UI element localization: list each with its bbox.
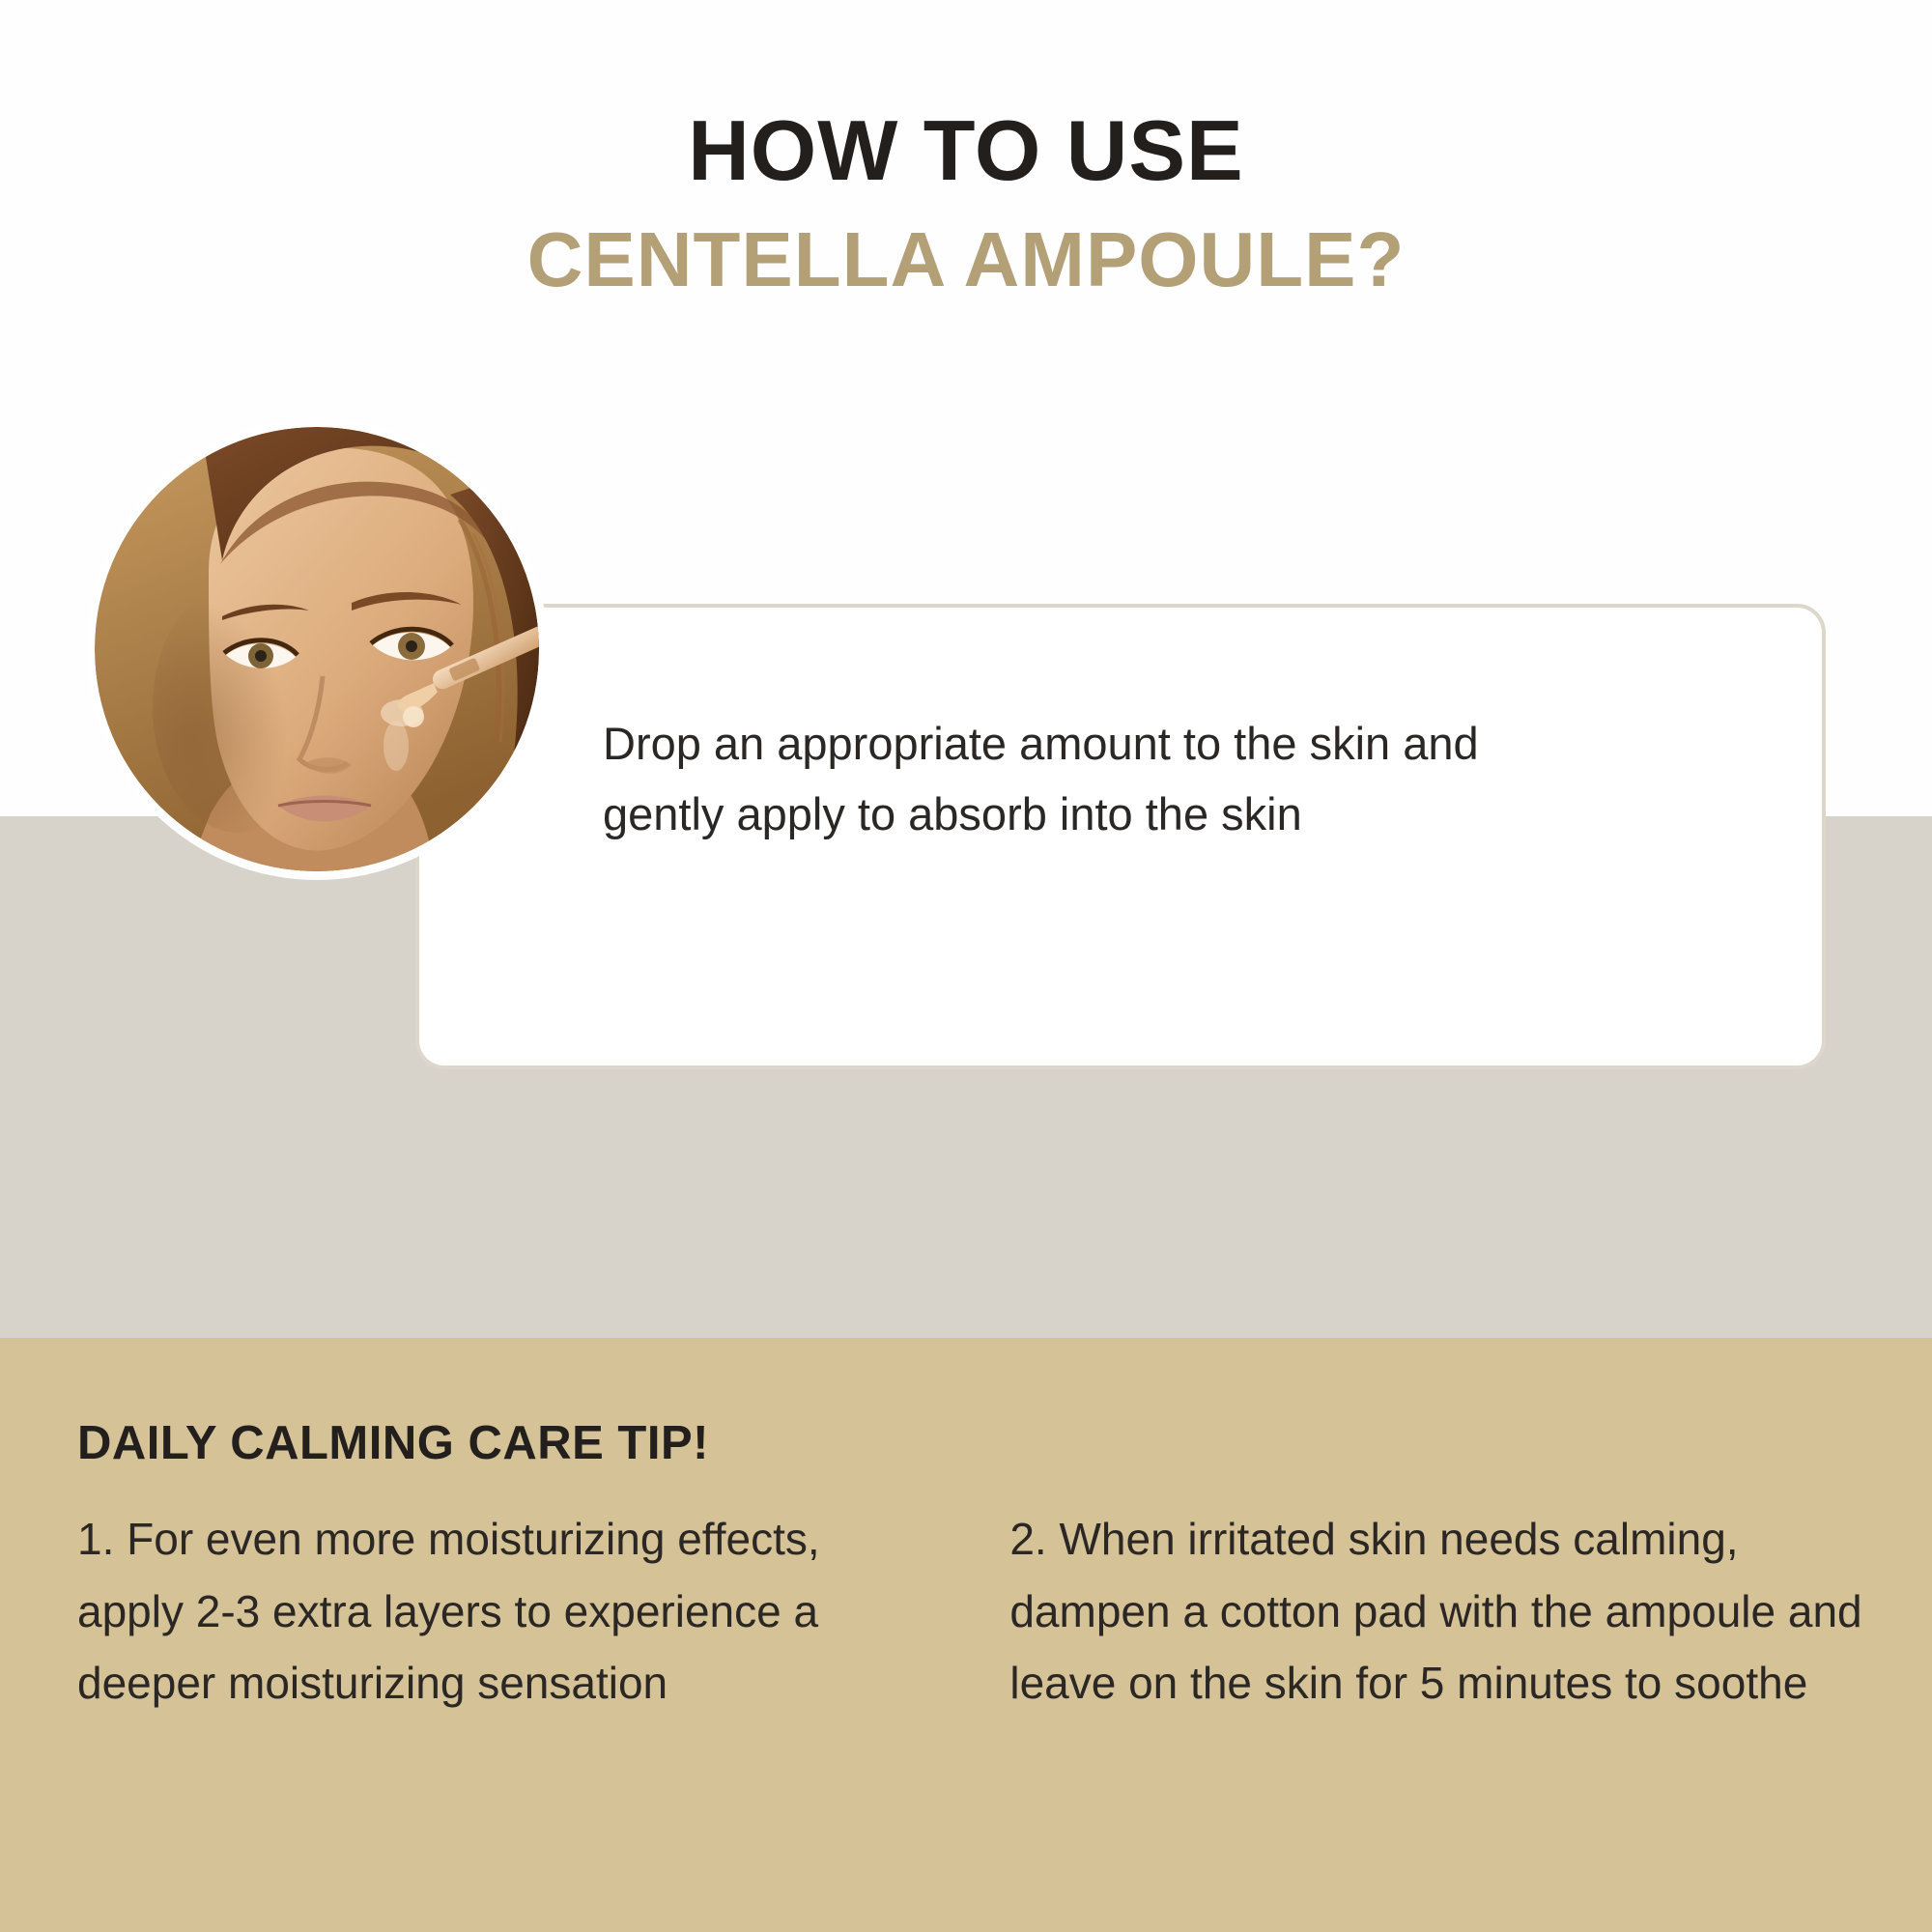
model-photo-ring: [95, 427, 539, 871]
model-photo-illustration: [95, 427, 539, 871]
instruction-card: Drop an appropriate amount to the skin a…: [415, 604, 1826, 1069]
tip-section-heading: DAILY CALMING CARE TIP!: [77, 1416, 1864, 1470]
page-header: HOW TO USE CENTELLA AMPOULE?: [0, 104, 1932, 302]
page-title-primary: HOW TO USE: [0, 104, 1932, 196]
tip-section: DAILY CALMING CARE TIP! 1. For even more…: [77, 1416, 1864, 1719]
infographic-poster: HOW TO USE CENTELLA AMPOULE? Drop an app…: [0, 0, 1932, 1932]
tip-item-1: 1. For even more moisturizing effects, a…: [77, 1503, 894, 1719]
instruction-card-text: Drop an appropriate amount to the skin a…: [603, 709, 1578, 850]
tip-item-2: 2. When irritated skin needs calming, da…: [1009, 1503, 1864, 1719]
tip-columns: 1. For even more moisturizing effects, a…: [77, 1503, 1864, 1719]
page-title-secondary: CENTELLA AMPOULE?: [0, 217, 1932, 302]
model-photo: [95, 427, 539, 871]
